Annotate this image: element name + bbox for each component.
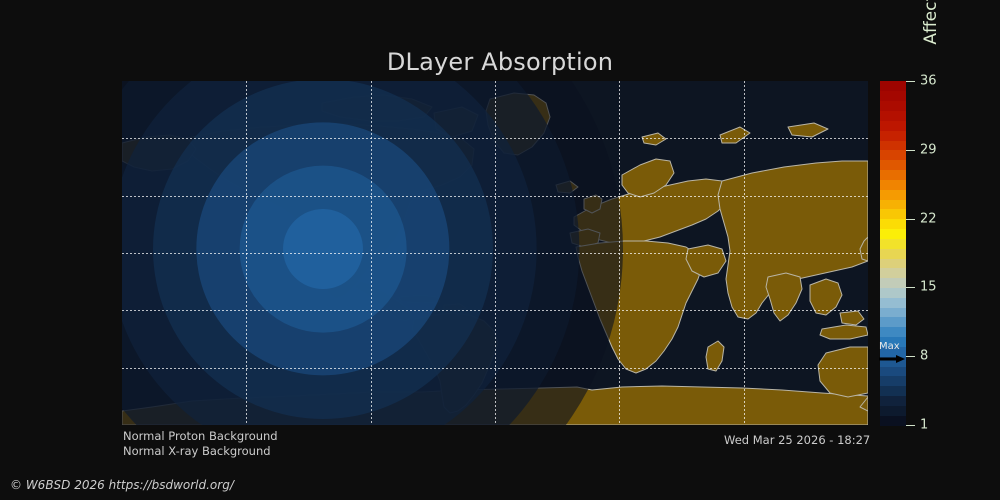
colorbar-band: [880, 140, 906, 150]
colorbar-tick-mark: [906, 219, 915, 220]
colorbar-tick-label: 15: [920, 281, 937, 294]
colorbar-band: [880, 317, 906, 327]
colorbar-tick-mark: [906, 287, 915, 288]
colorbar-tick-label: 8: [920, 350, 928, 363]
colorbar-band: [880, 101, 906, 111]
colorbar-band: [880, 386, 906, 396]
colorbar-band: [880, 297, 906, 307]
colorbar: 1815222936: [880, 81, 906, 425]
colorbar-band: [880, 396, 906, 406]
colorbar-band: [880, 91, 906, 101]
colorbar-tick-mark: [906, 425, 915, 426]
max-marker-arrow-icon: [879, 355, 905, 363]
land-cuba: [398, 295, 440, 303]
max-marker: Max: [878, 342, 918, 366]
proton-status: Normal Proton Background: [123, 429, 278, 444]
colorbar-band: [880, 219, 906, 229]
world-map: [122, 81, 868, 425]
colorbar-tick-mark: [906, 150, 915, 151]
colorbar-band: [880, 81, 906, 91]
timestamp: Wed Mar 25 2026 - 18:27: [724, 433, 870, 447]
colorbar-band: [880, 327, 906, 337]
colorbar-band: [880, 120, 906, 130]
colorbar-band: [880, 169, 906, 179]
colorbar-ticks: 1815222936: [906, 81, 956, 425]
colorbar-tick-label: 1: [920, 419, 928, 432]
figure-root: DLayer Absorption: [0, 0, 1000, 500]
colorbar-band: [880, 160, 906, 170]
colorbar-band: [880, 376, 906, 386]
copyright-footer: © W6BSD 2026 https://bsdworld.org/: [10, 478, 234, 492]
colorbar-band: [880, 268, 906, 278]
colorbar-band: [880, 150, 906, 160]
colorbar-tick-mark: [906, 81, 915, 82]
colorbar-band: [880, 307, 906, 317]
colorbar-tick-label: 29: [920, 143, 937, 156]
colorbar-band: [880, 199, 906, 209]
colorbar-band: [880, 130, 906, 140]
colorbar-gradient: [880, 81, 906, 425]
colorbar-band: [880, 405, 906, 415]
colorbar-band: [880, 366, 906, 376]
colorbar-axis-label: Affected Frequency (MHz): [918, 0, 944, 107]
colorbar-band: [880, 189, 906, 199]
max-marker-label: Max: [879, 342, 900, 352]
colorbar-band: [880, 209, 906, 219]
status-annotations: Normal Proton Background Normal X-ray Ba…: [123, 429, 278, 459]
colorbar-band: [880, 238, 906, 248]
colorbar-tick-label: 22: [920, 212, 937, 225]
colorbar-band: [880, 179, 906, 189]
colorbar-band: [880, 258, 906, 268]
page-title: DLayer Absorption: [0, 48, 1000, 76]
colorbar-band: [880, 415, 906, 425]
colorbar-band: [880, 110, 906, 120]
colorbar-band: [880, 228, 906, 238]
xray-status: Normal X-ray Background: [123, 444, 278, 459]
map-geometry: [122, 81, 868, 425]
colorbar-band: [880, 287, 906, 297]
colorbar-band: [880, 248, 906, 258]
colorbar-band: [880, 278, 906, 288]
